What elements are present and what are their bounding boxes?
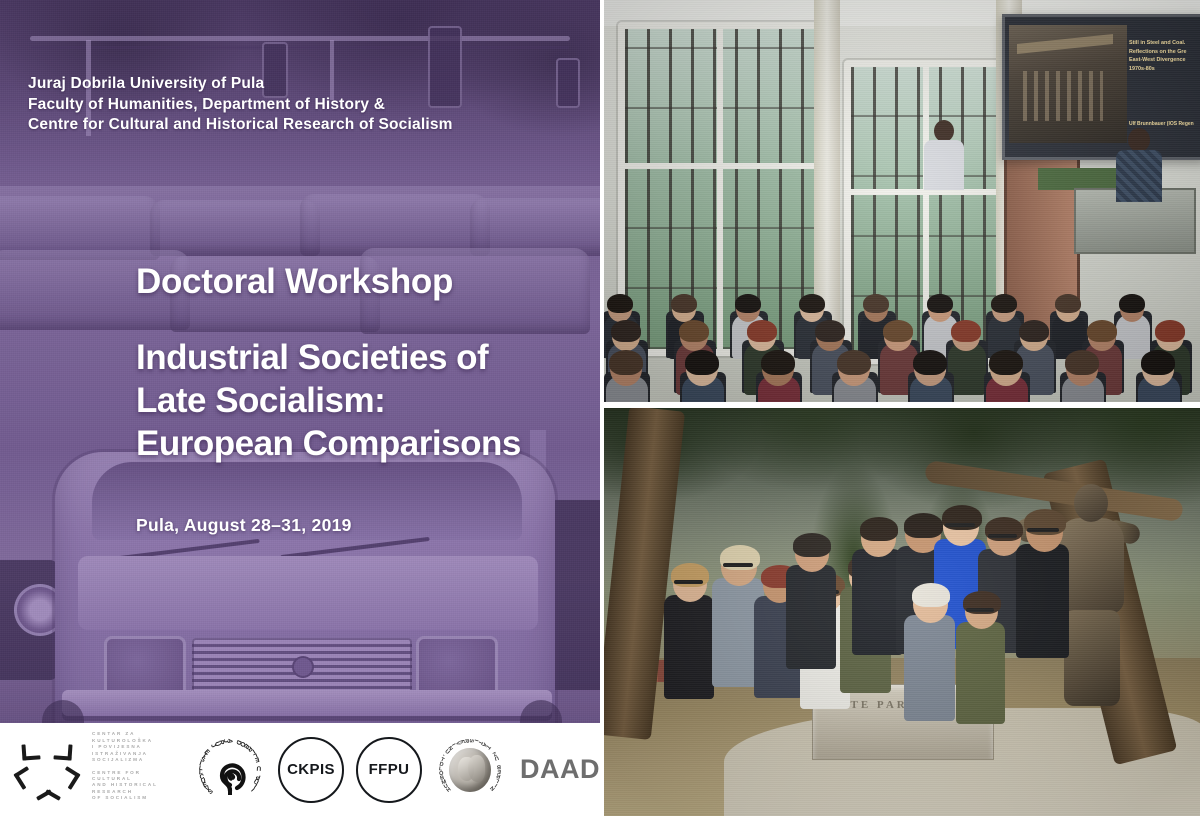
lecture-hall-photo: Still in Steel and Coal. Reflections on … <box>604 0 1200 402</box>
window-mullion <box>717 29 723 349</box>
audience-member-hair <box>607 294 633 313</box>
ckpis-wordmark-en: CENTRE FOR CULTURAL AND HISTORICAL RESEA… <box>92 770 180 802</box>
ckpis-badge-label: CKPIS <box>287 761 335 778</box>
slide-author: Ulf Brunnbauer (IOS Regen <box>1129 121 1200 127</box>
participant-hair <box>793 533 831 557</box>
participant <box>1016 512 1071 677</box>
organisation-line-2: Faculty of Humanities, Department of His… <box>28 95 588 116</box>
group-photo: MATE PARLOV <box>604 408 1200 816</box>
humboldt-seal-icon: HUMBOLDT-UNIVERSITÄT ZU BERLIN <box>434 734 506 806</box>
ffpu-badge-label: FFPU <box>369 761 410 778</box>
star-icon <box>12 737 80 803</box>
participant-body <box>956 622 1005 724</box>
audience-member-hair <box>815 320 845 342</box>
slide-title-line-1: Still in Steel and Coal. <box>1129 39 1200 48</box>
audience-member-hair <box>1019 320 1049 342</box>
sunglasses-icon <box>1027 528 1058 532</box>
sunglasses-icon <box>723 563 753 567</box>
audience-member-hair <box>1065 350 1099 375</box>
audience-member-hair <box>991 294 1017 313</box>
presenter-head <box>1128 128 1150 152</box>
ckpis-wordmark-hr: CENTAR ZA KULTUROLOŠKA I POVIJESNA ISTRA… <box>92 731 180 763</box>
audience-member-hair <box>685 350 719 375</box>
poster-collage: Juraj Dobrila University of Pula Faculty… <box>0 0 1200 816</box>
participant-body <box>1016 544 1069 658</box>
audience-member-hair <box>1141 350 1175 375</box>
audience-member-hair <box>837 350 871 375</box>
daad-wordmark: DAAD <box>520 754 600 785</box>
humboldt-heads-icon <box>449 748 491 792</box>
ffpu-badge: FFPU <box>356 737 422 803</box>
participant-hair <box>912 583 951 607</box>
audience-member-hair <box>951 320 981 342</box>
audience-member-hair <box>671 294 697 313</box>
spiral-icon <box>207 745 253 795</box>
audience-member-hair <box>1119 294 1145 313</box>
audience-member-hair <box>747 320 777 342</box>
seal-ring-char: T <box>485 743 492 750</box>
audience-member-hair <box>913 350 947 375</box>
participant-head <box>934 120 954 142</box>
poster-panel: Juraj Dobrila University of Pula Faculty… <box>0 0 600 723</box>
participant <box>956 594 1007 741</box>
participant-hair <box>860 517 899 541</box>
title-line-3: European Comparisons <box>136 422 600 465</box>
audience-member-hair <box>1055 294 1081 313</box>
projection-screen: Still in Steel and Coal. Reflections on … <box>1002 14 1200 160</box>
statue-legs <box>1064 610 1120 706</box>
presenter-person <box>1116 128 1162 202</box>
audience-member-hair <box>989 350 1023 375</box>
participant-body <box>904 615 955 721</box>
slide-photograph <box>1009 25 1127 143</box>
participant-body <box>664 595 714 699</box>
workshop-title: Industrial Societies of Late Socialism: … <box>136 336 600 465</box>
participant-body <box>786 565 836 669</box>
organisation-block: Juraj Dobrila University of Pula Faculty… <box>28 74 588 136</box>
audience-member-hair <box>863 294 889 313</box>
audience-member-hair <box>679 320 709 342</box>
audience-member-hair <box>609 350 643 375</box>
participant <box>904 586 957 739</box>
title-line-1: Industrial Societies of <box>136 336 600 379</box>
slide-title: Still in Steel and Coal. Reflections on … <box>1129 39 1200 73</box>
participant <box>786 536 838 686</box>
slide-title-line-2: Reflections on the Gre <box>1129 48 1200 57</box>
presenter-torso <box>1116 150 1162 202</box>
window-transom <box>625 163 815 169</box>
sunglasses-icon <box>988 534 1017 538</box>
sunglasses-icon <box>966 608 994 612</box>
audience-member-hair <box>1087 320 1117 342</box>
participant-torso <box>924 140 964 190</box>
sponsor-logo-bar: CENTAR ZA KULTUROLOŠKA I POVIJESNA ISTRA… <box>0 723 600 816</box>
statue-head <box>1074 484 1108 522</box>
ckpis-badge: CKPIS <box>278 737 344 803</box>
participant <box>664 566 716 716</box>
slide-title-line-4: 1970s-80s <box>1129 65 1200 74</box>
audience-member-hair <box>799 294 825 313</box>
date-and-place: Pula, August 28–31, 2019 <box>136 515 352 536</box>
event-type-heading: Doctoral Workshop <box>136 262 453 302</box>
title-line-2: Late Socialism: <box>136 379 600 422</box>
audience-member-hair <box>883 320 913 342</box>
seal-ring-char: U <box>493 754 499 761</box>
seal-ring-char: U <box>256 764 261 771</box>
seal-ring-char: A <box>226 738 233 744</box>
organisation-line-3: Centre for Cultural and Historical Resea… <box>28 115 588 136</box>
audience-member-hair <box>611 320 641 342</box>
ckpis-wordmark: CENTAR ZA KULTUROLOŠKA I POVIJESNA ISTRA… <box>92 731 180 807</box>
sunglasses-icon <box>945 523 975 527</box>
slide-title-line-3: East-West Divergence <box>1129 56 1200 65</box>
standing-participant <box>924 120 964 190</box>
seal-ring-char: E <box>254 755 260 763</box>
university-seal-icon: SVEUČILIŠTE JURJA DOBRILE U PULI <box>194 734 266 806</box>
audience-member-hair <box>927 294 953 313</box>
audience-member-hair <box>761 350 795 375</box>
audience-member-hair <box>1155 320 1185 342</box>
sunglasses-icon <box>674 580 703 584</box>
tall-window <box>618 22 822 356</box>
organisation-line-1: Juraj Dobrila University of Pula <box>28 74 588 95</box>
audience-member-hair <box>735 294 761 313</box>
